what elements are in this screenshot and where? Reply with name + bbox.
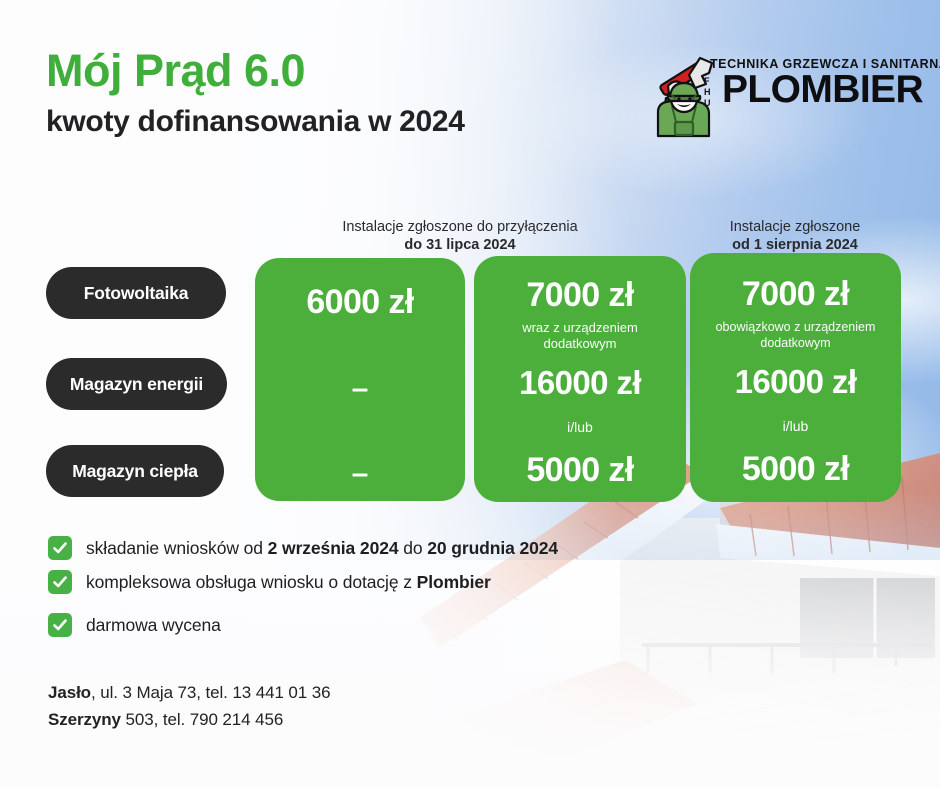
amount-c3-fotowoltaika: 7000 zł [690, 277, 901, 311]
note-c3-magazyn-energii: i/lub [690, 419, 901, 433]
row-label-fotowoltaika: Fotowoltaika [46, 267, 226, 319]
checkmark-icon [48, 536, 72, 560]
amount-card-column-3: 7000 zł obowiązkowo z urządzeniemdodatko… [690, 253, 901, 502]
amount-c3-magazyn-ciepla: 5000 zł [690, 452, 901, 486]
page-title: Mój Prąd 6.0 [46, 48, 305, 93]
note-c2-fotowoltaika: wraz z urządzeniemdodatkowym [474, 320, 686, 352]
logo-company-name: PLOMBIER [722, 70, 923, 109]
amount-c1-fotowoltaika: 6000 zł [255, 285, 465, 319]
note-c2-magazyn-energii: i/lub [474, 420, 686, 434]
amount-c2-fotowoltaika: 7000 zł [474, 278, 686, 312]
column-header-1: Instalacje zgłoszone do przyłączenia do … [245, 218, 675, 254]
amount-c2-magazyn-ciepla: 5000 zł [474, 453, 686, 487]
amount-c3-magazyn-energii: 16000 zł [690, 365, 901, 398]
logo-prefix: FHU [704, 76, 711, 109]
column-header-2-line1: Instalacje zgłoszone [690, 218, 900, 236]
amount-card-column-1: 6000 zł – – [255, 258, 465, 501]
row-label-magazyn-energii: Magazyn energii [46, 358, 227, 410]
checkmark-icon [48, 570, 72, 594]
amount-card-column-2: 7000 zł wraz z urządzeniemdodatkowym 160… [474, 256, 686, 502]
list-item: darmowa wycena [48, 613, 221, 637]
list-item-label: kompleksowa obsługa wniosku o dotację z … [86, 572, 491, 593]
row-label-magazyn-ciepla: Magazyn ciepła [46, 445, 224, 497]
column-header-1-line1: Instalacje zgłoszone do przyłączenia [245, 218, 675, 236]
amount-c1-magazyn-ciepla: – [255, 459, 465, 489]
column-header-2: Instalacje zgłoszone od 1 sierpnia 2024 [690, 218, 900, 254]
contact-line-jaslo: Jasło, ul. 3 Maja 73, tel. 13 441 01 36 [48, 683, 330, 703]
note-c3-fotowoltaika: obowiązkowo z urządzeniemdodatkowym [690, 319, 901, 351]
contact-line-szerzyny: Szerzyny 503, tel. 790 214 456 [48, 710, 283, 730]
amount-c2-magazyn-energii: 16000 zł [474, 366, 686, 399]
checkmark-icon [48, 613, 72, 637]
list-item: kompleksowa obsługa wniosku o dotację z … [48, 570, 491, 594]
page-subtitle: kwoty dofinansowania w 2024 [46, 107, 465, 137]
list-item: składanie wniosków od 2 września 2024 do… [48, 536, 558, 560]
list-item-label: darmowa wycena [86, 615, 221, 636]
column-header-2-line2: od 1 sierpnia 2024 [690, 236, 900, 254]
list-item-label: składanie wniosków od 2 września 2024 do… [86, 538, 558, 559]
amount-c1-magazyn-energii: – [255, 374, 465, 404]
company-logo: TECHNIKA GRZEWCZA I SANITARNA FHU PLOMBI… [638, 50, 900, 142]
column-header-1-line2: do 31 lipca 2024 [245, 236, 675, 254]
